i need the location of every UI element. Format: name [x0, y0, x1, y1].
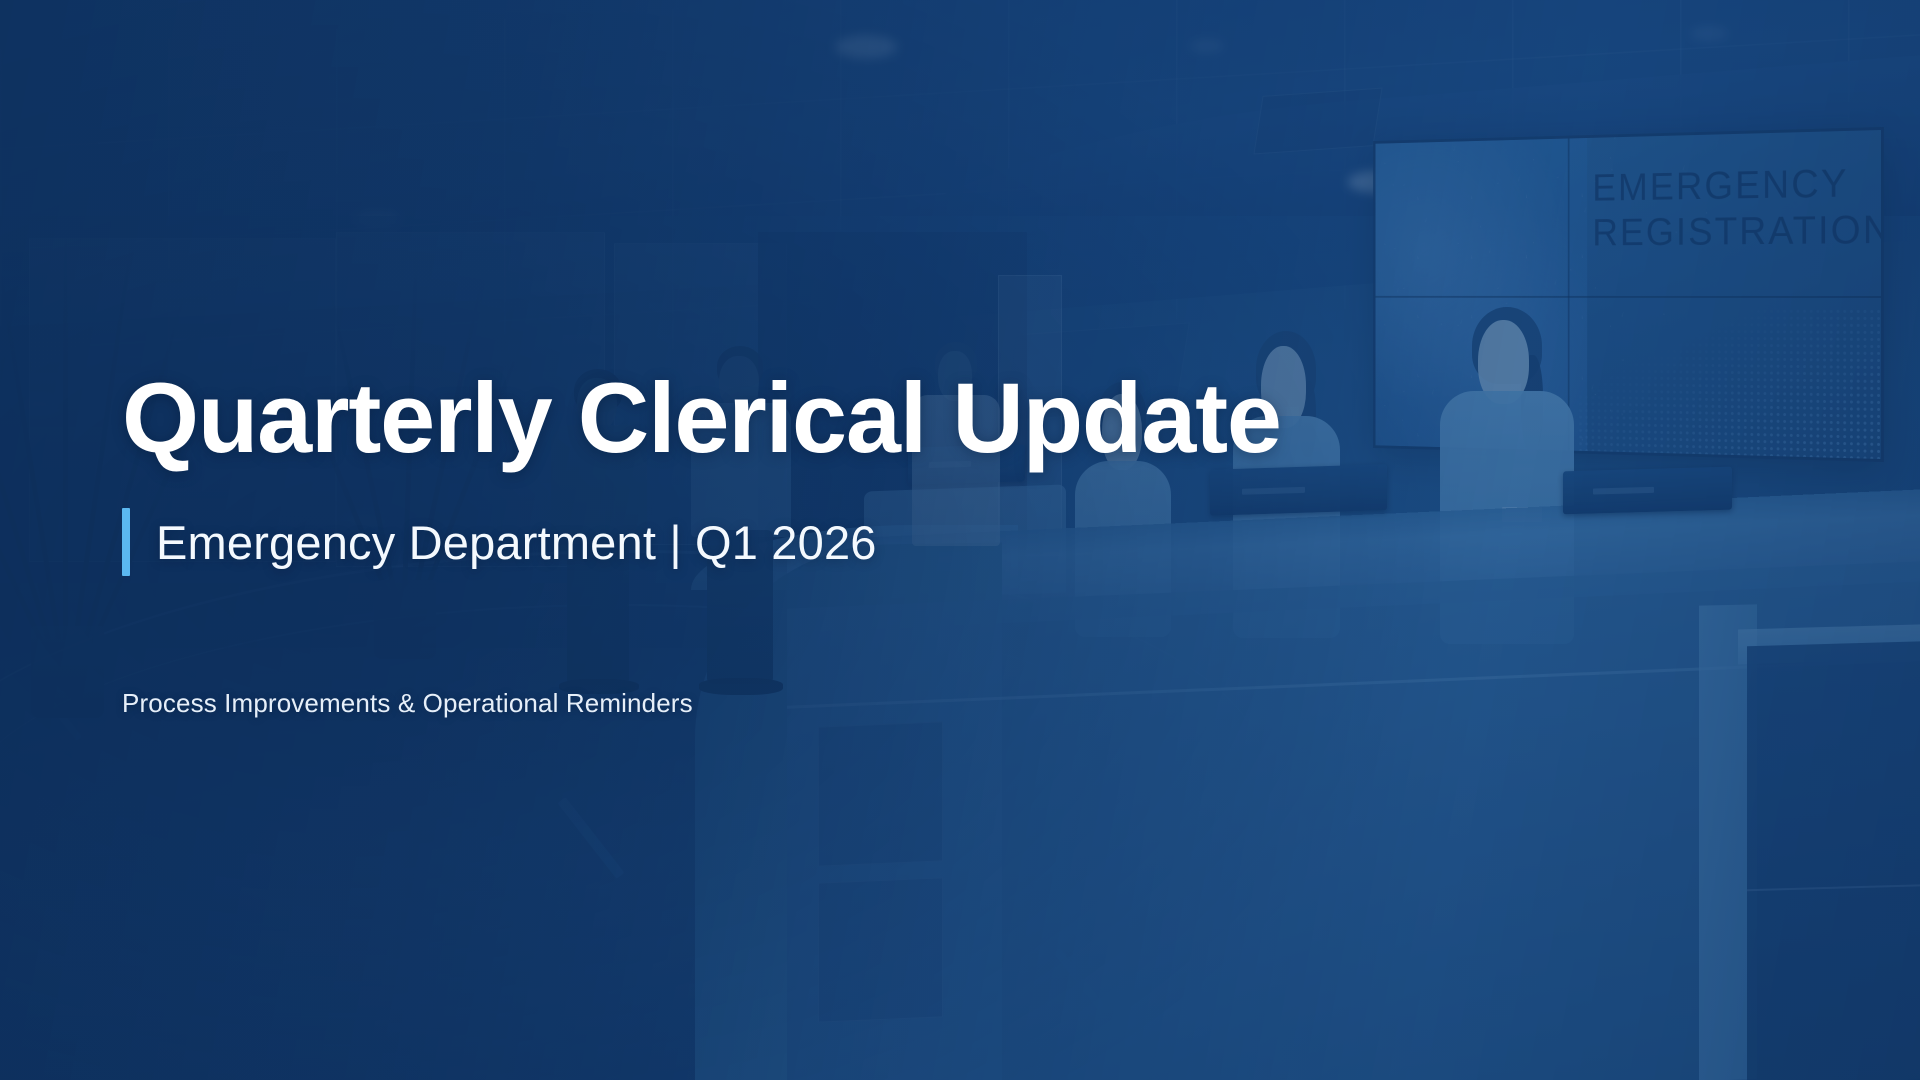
slide-tagline: Process Improvements & Operational Remin… — [122, 688, 693, 719]
accent-bar — [122, 508, 130, 576]
slide-content: Quarterly Clerical Update Emergency Depa… — [122, 0, 1622, 1080]
slide-subtitle-row: Emergency Department | Q1 2026 — [122, 508, 877, 576]
slide-title: Quarterly Clerical Update — [122, 368, 1281, 467]
title-slide: EMERGENCY REGISTRATION — [0, 0, 1920, 1080]
slide-subtitle: Emergency Department | Q1 2026 — [156, 515, 877, 570]
